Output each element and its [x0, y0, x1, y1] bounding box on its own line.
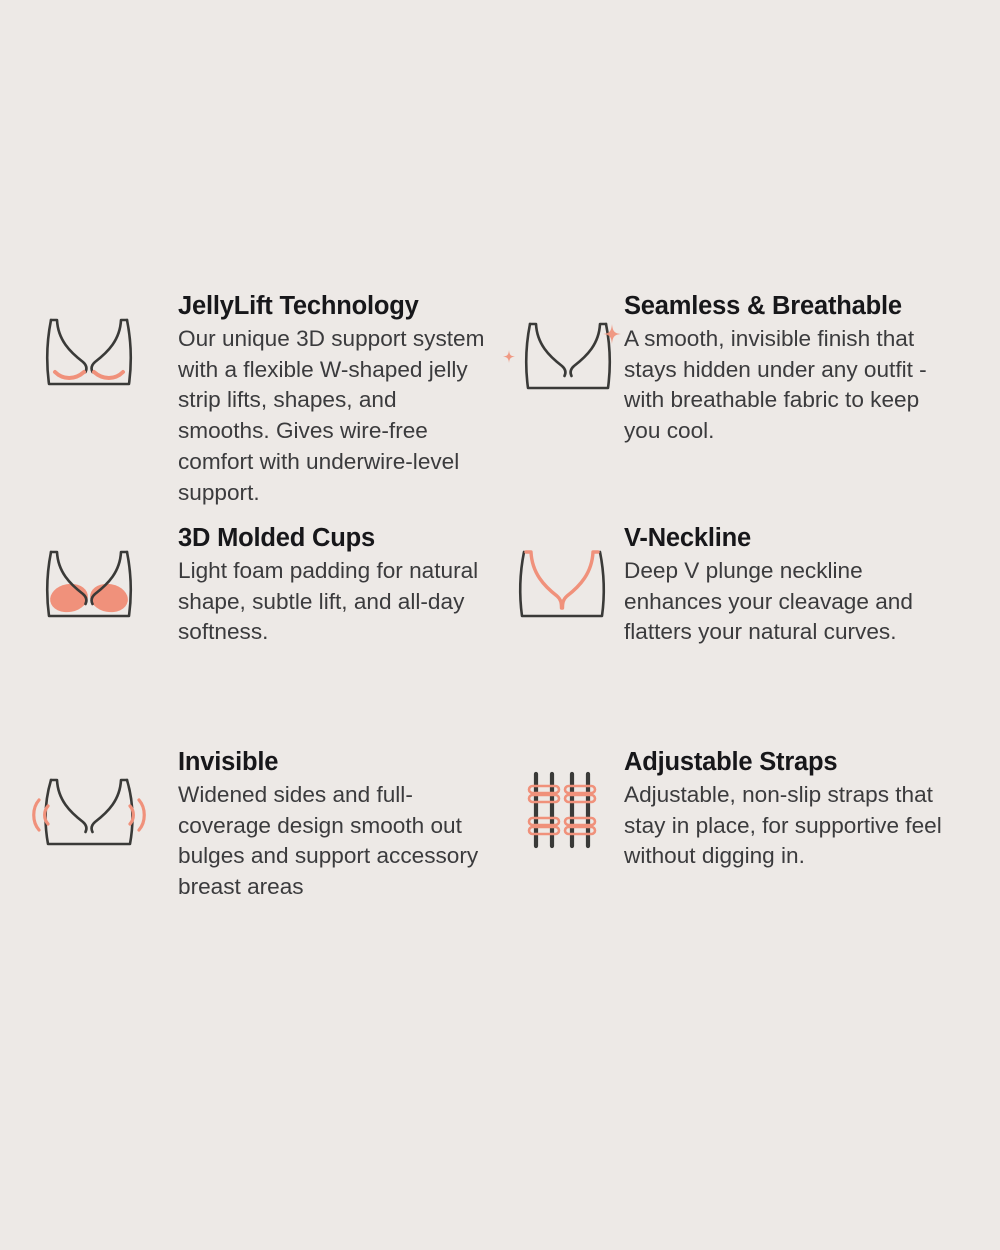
feature-text: V-Neckline Deep V plunge neckline enhanc…: [624, 524, 1000, 648]
feature-card-invisible: Invisible Widened sides and full-coverag…: [0, 748, 500, 903]
feature-grid-page: JellyLift Technology Our unique 3D suppo…: [0, 0, 1000, 1250]
strap-sliders-icon: [500, 748, 624, 850]
bra-waves-icon: [0, 748, 178, 850]
feature-card-seamless-breathable: Seamless & Breathable A smooth, invisibl…: [500, 292, 1000, 524]
feature-text: Invisible Widened sides and full-coverag…: [178, 748, 500, 903]
feature-text: 3D Molded Cups Light foam padding for na…: [178, 524, 500, 648]
feature-description: A smooth, invisible finish that stays hi…: [624, 324, 949, 448]
bra-jelly-strip-icon: [0, 292, 178, 390]
features-row: 3D Molded Cups Light foam padding for na…: [0, 524, 1000, 748]
feature-title: JellyLift Technology: [178, 292, 500, 322]
feature-card-jellylift-technology: JellyLift Technology Our unique 3D suppo…: [0, 292, 500, 524]
features-row: Invisible Widened sides and full-coverag…: [0, 748, 1000, 903]
bra-molded-cups-icon: [0, 524, 178, 622]
feature-title: 3D Molded Cups: [178, 524, 500, 554]
feature-text: JellyLift Technology Our unique 3D suppo…: [178, 292, 500, 509]
feature-text: Adjustable Straps Adjustable, non-slip s…: [624, 748, 1000, 872]
feature-title: Seamless & Breathable: [624, 292, 1000, 322]
feature-title: V-Neckline: [624, 524, 1000, 554]
feature-title: Invisible: [178, 748, 500, 778]
feature-card-v-neckline: V-Neckline Deep V plunge neckline enhanc…: [500, 524, 1000, 748]
features-grid: JellyLift Technology Our unique 3D suppo…: [0, 292, 1000, 903]
feature-card-adjustable-straps: Adjustable Straps Adjustable, non-slip s…: [500, 748, 1000, 903]
feature-title: Adjustable Straps: [624, 748, 1000, 778]
feature-description: Widened sides and full-coverage design s…: [178, 780, 494, 904]
feature-description: Light foam padding for natural shape, su…: [178, 556, 494, 649]
bra-v-neckline-icon: [500, 524, 624, 622]
feature-description: Adjustable, non-slip straps that stay in…: [624, 780, 949, 873]
features-row: JellyLift Technology Our unique 3D suppo…: [0, 292, 1000, 524]
feature-description: Deep V plunge neckline enhances your cle…: [624, 556, 949, 649]
feature-text: Seamless & Breathable A smooth, invisibl…: [624, 292, 1000, 447]
feature-description: Our unique 3D support system with a flex…: [178, 324, 494, 510]
bra-sparkle-icon: [500, 292, 624, 394]
feature-card-3d-molded-cups: 3D Molded Cups Light foam padding for na…: [0, 524, 500, 748]
